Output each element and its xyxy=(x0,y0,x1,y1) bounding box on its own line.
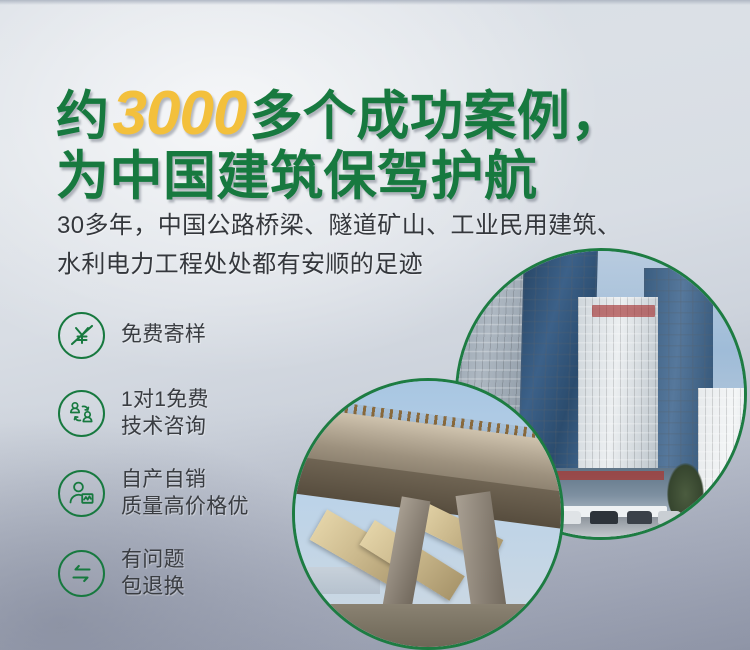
headline-number: 3000 xyxy=(110,79,250,148)
building-right xyxy=(698,388,747,537)
headline-prefix: 约 xyxy=(56,87,110,146)
feature-label-free-sample: 免费寄样 xyxy=(121,321,206,348)
feature-label-return-exchange: 有问题 包退换 xyxy=(121,546,185,601)
background-top-edge xyxy=(0,0,750,5)
feature-label-line: 1对1免费 xyxy=(121,386,209,413)
feature-label-self-production: 自产自销 质量高价格优 xyxy=(121,466,249,521)
feature-item-self-production: 自产自销 质量高价格优 xyxy=(58,453,338,533)
headline-block: 约3000多个成功案例， 为中国建筑保驾护航 xyxy=(56,82,696,204)
headline-line-1: 约3000多个成功案例， xyxy=(56,82,696,146)
car xyxy=(658,511,681,524)
feature-label-line: 技术咨询 xyxy=(121,413,209,440)
car xyxy=(590,511,619,524)
no-fee-yuan-icon xyxy=(58,312,105,359)
feature-label-line: 有问题 xyxy=(121,546,185,573)
rooftop-sign xyxy=(592,305,655,316)
feature-label-line: 自产自销 xyxy=(121,466,249,493)
person-chart-icon xyxy=(58,470,105,517)
feature-label-line: 包退换 xyxy=(121,573,185,600)
subtitle-line-1: 30多年，中国公路桥梁、隧道矿山、工业民用建筑、 xyxy=(57,207,717,246)
feature-label-line: 免费寄样 xyxy=(121,321,206,348)
car xyxy=(627,511,653,524)
podium-sign xyxy=(544,471,664,480)
feature-item-consultation: 1对1免费 技术咨询 xyxy=(58,373,338,453)
swap-arrows-icon xyxy=(58,550,105,597)
headline-suffix: 多个成功案例， xyxy=(249,87,624,146)
feature-label-consultation: 1对1免费 技术咨询 xyxy=(121,386,209,441)
two-person-exchange-icon xyxy=(58,390,105,437)
promo-banner: 约3000多个成功案例， 为中国建筑保驾护航 30多年，中国公路桥梁、隧道矿山、… xyxy=(0,0,750,650)
window-grid xyxy=(698,388,747,537)
feature-item-free-sample: 免费寄样 xyxy=(58,297,338,373)
feature-list: 免费寄样 1对1免 xyxy=(58,297,338,613)
headline-line-2: 为中国建筑保驾护航 xyxy=(56,150,696,205)
feature-label-line: 质量高价格优 xyxy=(121,493,249,520)
feature-item-return-exchange: 有问题 包退换 xyxy=(58,533,338,613)
